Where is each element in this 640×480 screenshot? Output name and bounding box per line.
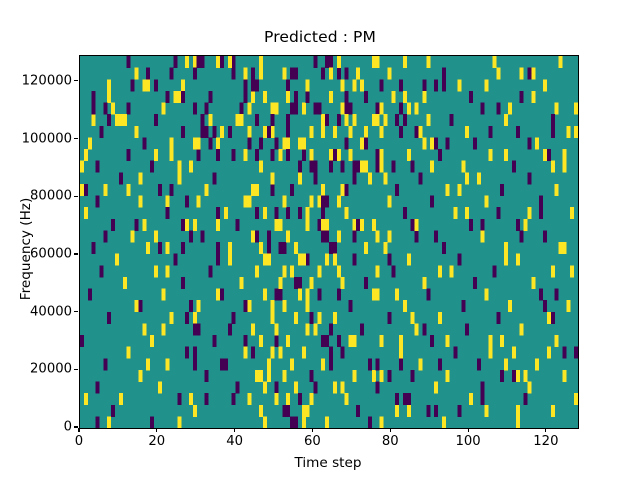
y-tick-mark xyxy=(74,253,78,254)
y-tick-mark xyxy=(74,426,78,427)
matplotlib-figure: Predicted : PM Time step Frequency (Hz) … xyxy=(0,0,640,480)
y-tick-label: 80000 xyxy=(30,189,72,204)
x-tick-mark xyxy=(468,428,469,432)
x-tick-label: 0 xyxy=(75,434,83,449)
x-axis-label: Time step xyxy=(79,455,577,471)
x-tick-label: 100 xyxy=(455,434,480,449)
x-tick-mark xyxy=(234,428,235,432)
heatmap-canvas xyxy=(80,56,578,428)
y-tick-mark xyxy=(74,311,78,312)
x-tick-label: 20 xyxy=(148,434,165,449)
x-tick-label: 60 xyxy=(304,434,321,449)
x-tick-mark xyxy=(312,428,313,432)
y-tick-label: 100000 xyxy=(22,131,72,146)
y-tick-label: 20000 xyxy=(30,362,72,377)
page-title: Predicted : PM xyxy=(0,28,640,46)
y-tick-label: 40000 xyxy=(30,304,72,319)
y-tick-label: 120000 xyxy=(22,73,72,88)
x-tick-label: 120 xyxy=(533,434,558,449)
x-tick-mark xyxy=(545,428,546,432)
heatmap-plot-area[interactable] xyxy=(79,55,579,429)
x-tick-mark xyxy=(390,428,391,432)
y-tick-label: 0 xyxy=(64,420,72,435)
y-tick-mark xyxy=(74,80,78,81)
x-tick-mark xyxy=(78,428,79,432)
y-tick-label: 60000 xyxy=(30,246,72,261)
y-tick-mark xyxy=(74,196,78,197)
y-tick-mark xyxy=(74,138,78,139)
y-tick-mark xyxy=(74,369,78,370)
x-tick-label: 40 xyxy=(226,434,243,449)
x-tick-mark xyxy=(156,428,157,432)
x-tick-label: 80 xyxy=(382,434,399,449)
